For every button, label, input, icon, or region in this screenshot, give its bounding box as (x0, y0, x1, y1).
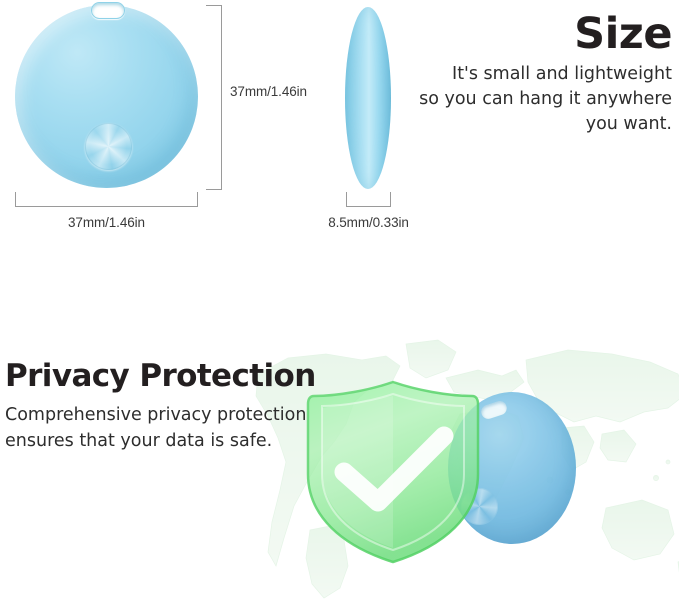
front-width-label: 37mm/1.46in (15, 215, 198, 230)
size-description: It's small and lightweight so you can ha… (312, 62, 672, 137)
front-height-label: 37mm/1.46in (230, 84, 307, 99)
size-title: Size (312, 10, 672, 58)
front-height-bracket (206, 5, 222, 190)
side-thickness-bracket (346, 192, 391, 208)
side-thickness-label: 8.5mm/0.33in (318, 215, 419, 230)
product-feature-page: 37mm/1.46in 37mm/1.46in 8.5mm/0.33in Siz… (0, 0, 679, 589)
tracker-front-view-icon (15, 5, 198, 188)
size-copy-block: Size It's small and lightweight so you c… (312, 10, 672, 137)
size-description-line-3: you want. (586, 114, 672, 134)
size-description-line-1: It's small and lightweight (452, 64, 672, 84)
privacy-title: Privacy Protection (5, 358, 345, 394)
privacy-description-line-1: Comprehensive privacy protection (5, 405, 306, 425)
privacy-description-line-2: ensures that your data is safe. (5, 431, 272, 451)
tracker-button-icon (85, 123, 132, 170)
privacy-section: Privacy Protection Comprehensive privacy… (0, 300, 679, 589)
size-section: 37mm/1.46in 37mm/1.46in 8.5mm/0.33in Siz… (0, 0, 679, 300)
size-description-line-2: so you can hang it anywhere (419, 89, 672, 109)
privacy-copy-block: Privacy Protection Comprehensive privacy… (5, 358, 345, 454)
privacy-description: Comprehensive privacy protection ensures… (5, 402, 345, 454)
front-width-bracket (15, 192, 198, 208)
hang-loop-icon (91, 2, 125, 19)
